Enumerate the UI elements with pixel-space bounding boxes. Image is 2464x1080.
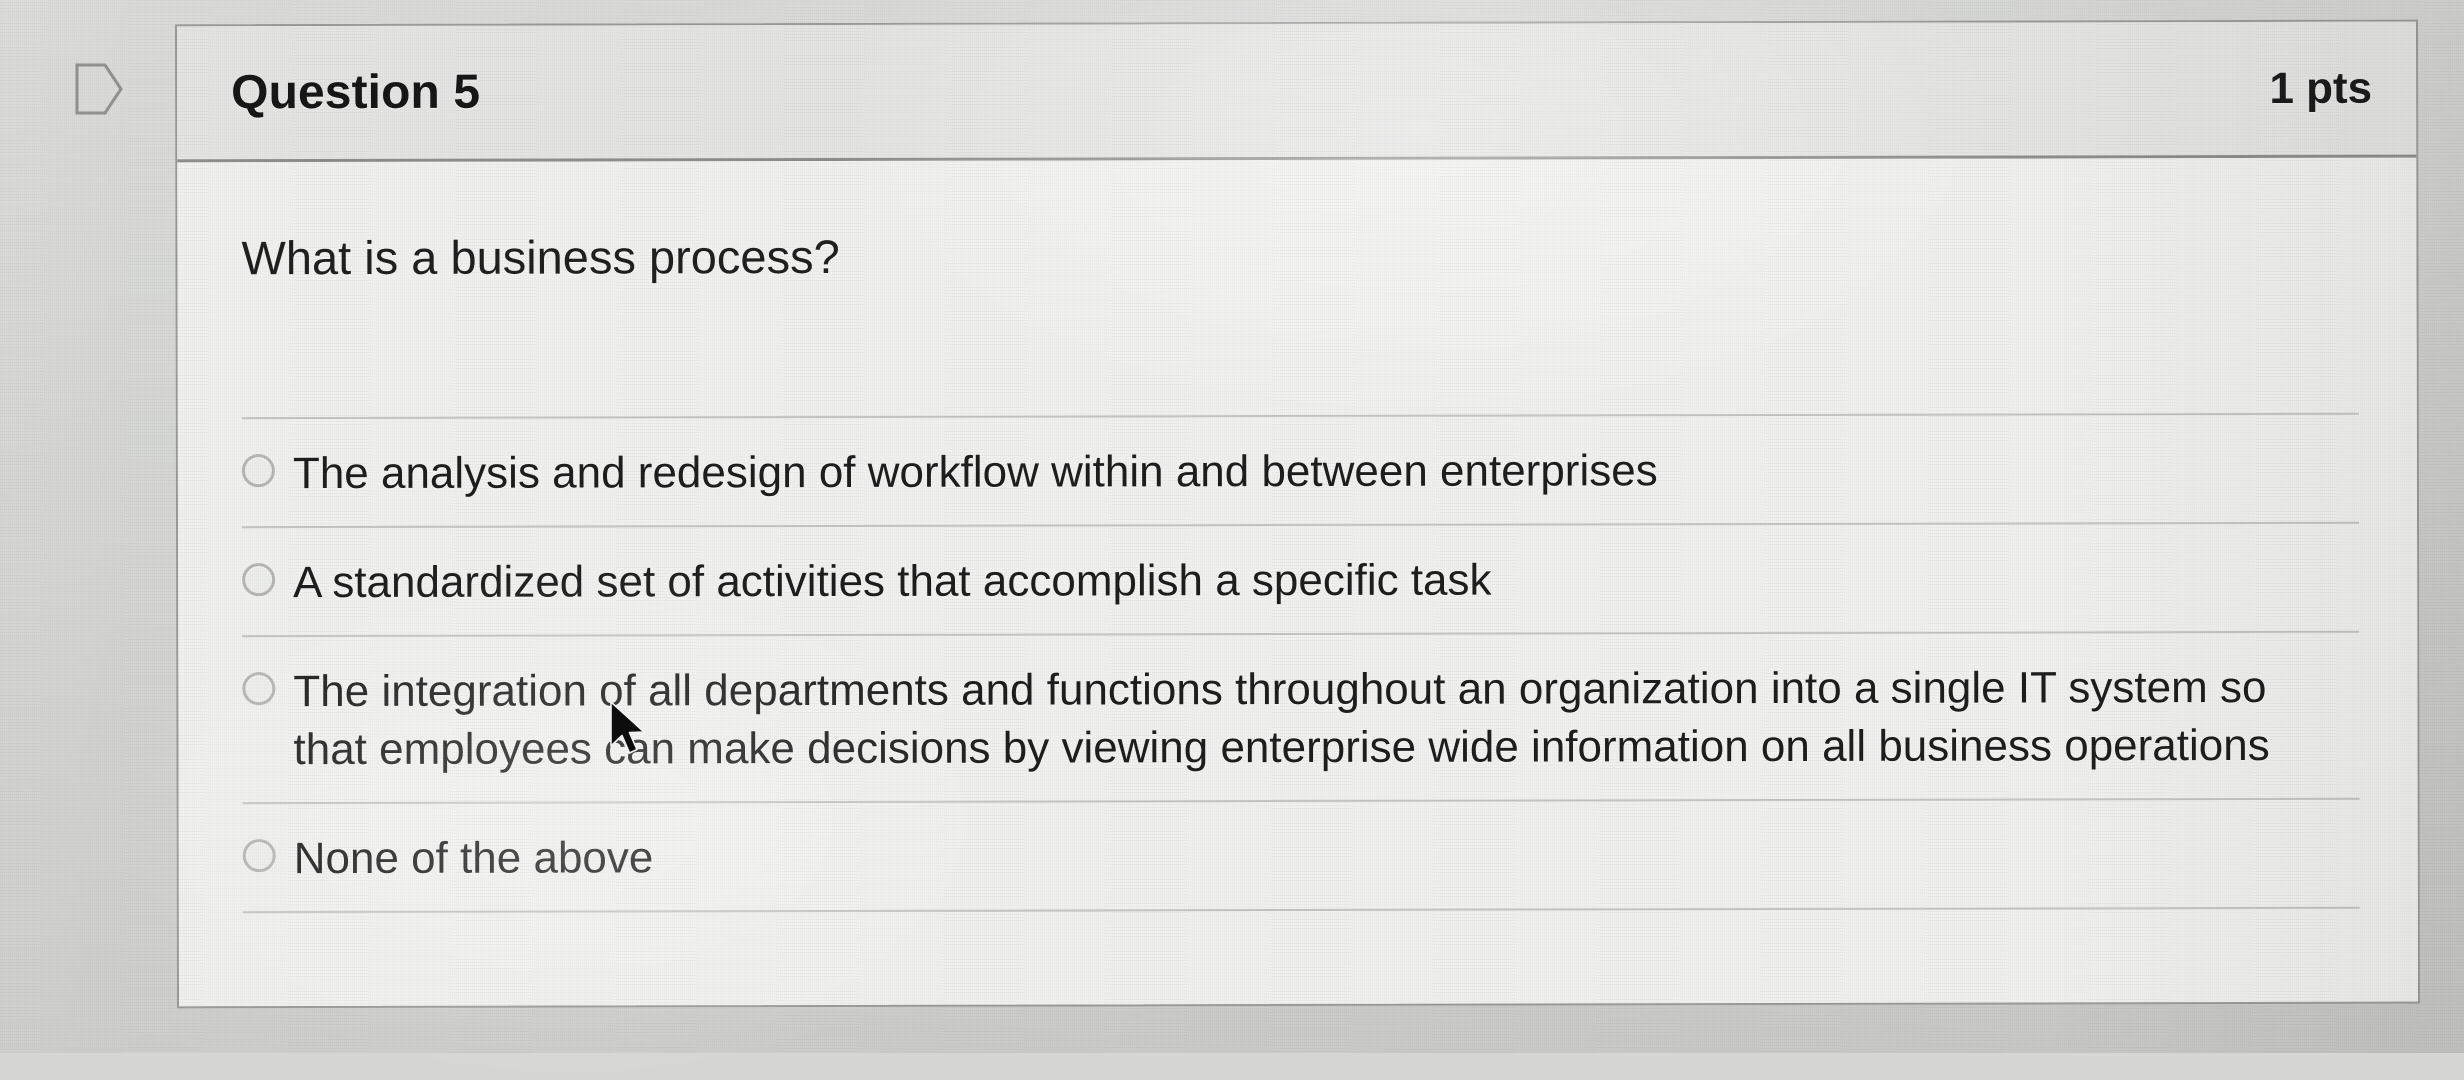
radio-button-d[interactable]	[243, 839, 276, 872]
answer-label-c: The integration of all departments and f…	[293, 659, 2343, 778]
answer-options-list: The analysis and redesign of workflow wi…	[242, 413, 2360, 913]
points-badge: 1 pts	[2269, 66, 2372, 110]
answer-option-c[interactable]: The integration of all departments and f…	[242, 631, 2359, 802]
radio-button-c[interactable]	[242, 673, 275, 706]
bookmark-tag-icon[interactable]	[75, 63, 123, 115]
question-body: What is a business process? The analysis…	[177, 158, 2418, 1004]
answer-option-b[interactable]: A standardized set of activities that ac…	[242, 522, 2359, 636]
answer-option-d[interactable]: None of the above	[243, 798, 2360, 914]
answer-label-b: A standardized set of activities that ac…	[293, 552, 1491, 612]
question-prompt: What is a business process?	[241, 229, 839, 285]
answer-label-a: The analysis and redesign of workflow wi…	[293, 442, 1658, 502]
page-title: Question 5	[231, 68, 480, 117]
radio-button-a[interactable]	[242, 454, 275, 487]
answer-option-a[interactable]: The analysis and redesign of workflow wi…	[242, 413, 2359, 527]
answer-label-d: None of the above	[294, 829, 654, 887]
question-header: Question 5 1 pts	[177, 22, 2416, 163]
radio-button-b[interactable]	[242, 563, 275, 596]
question-card: Question 5 1 pts What is a business proc…	[175, 20, 2420, 1009]
